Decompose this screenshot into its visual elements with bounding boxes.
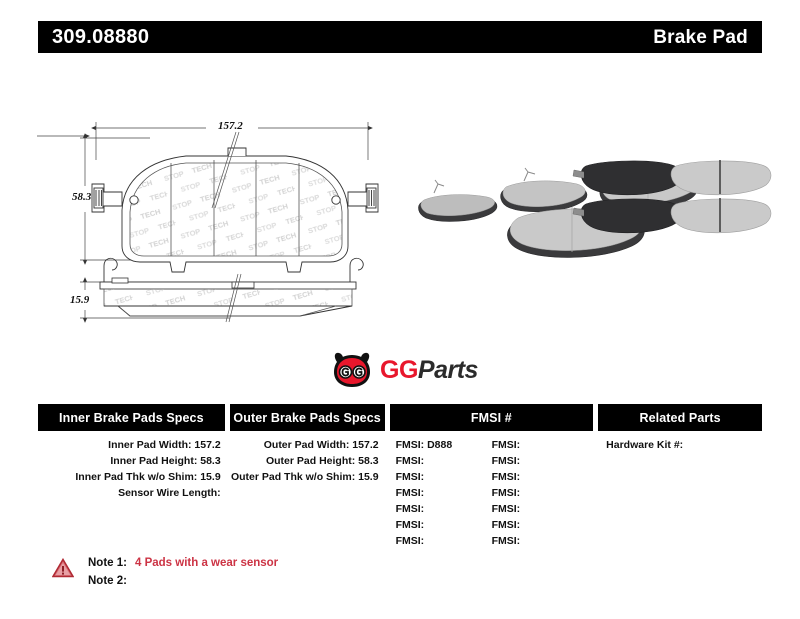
fmsi-column: FMSI: D888 FMSI: FMSI: FMSI: FMSI: FMSI:…	[390, 437, 594, 549]
fmsi-row: FMSI:	[396, 517, 492, 533]
fmsi-row: FMSI:	[492, 453, 521, 469]
fmsi-row: FMSI:	[396, 469, 492, 485]
inner-specs-column: Inner Pad Width: 157.2 Inner Pad Height:…	[38, 437, 225, 549]
spec-row: Inner Pad Width: 157.2	[38, 437, 221, 453]
logo-text-gg: GG	[380, 356, 418, 384]
ggparts-mascot-icon	[330, 350, 374, 390]
fmsi-subcolumn-left: FMSI: D888 FMSI: FMSI: FMSI: FMSI: FMSI:…	[396, 437, 492, 549]
spec-row: Inner Pad Height: 58.3	[38, 453, 221, 469]
fmsi-row: FMSI:	[492, 517, 521, 533]
spec-row: Outer Pad Height: 58.3	[230, 453, 379, 469]
related-part-row: Hardware Kit #:	[606, 437, 762, 453]
fmsi-row: FMSI:	[396, 501, 492, 517]
column-header-fmsi: FMSI #	[390, 404, 594, 431]
note-line-2: Note 2:	[88, 572, 278, 590]
spec-row: Outer Pad Thk w/o Shim: 15.9	[230, 469, 379, 485]
fmsi-row: FMSI:	[492, 485, 521, 501]
column-header-inner-specs: Inner Brake Pads Specs	[38, 404, 225, 431]
column-header-related-parts: Related Parts	[598, 404, 762, 431]
column-header-outer-specs: Outer Brake Pads Specs	[230, 404, 385, 431]
fmsi-row: FMSI:	[492, 533, 521, 549]
fmsi-row: FMSI:	[396, 533, 492, 549]
note-line-1: Note 1: 4 Pads with a wear sensor	[88, 554, 278, 572]
technical-drawing-area: 157.2 58.3 15.9 STOP TECH STOP TECH	[0, 60, 800, 390]
specs-table-body: Inner Pad Width: 157.2 Inner Pad Height:…	[38, 437, 762, 549]
fmsi-row: FMSI:	[492, 501, 521, 517]
spec-row: Inner Pad Thk w/o Shim: 15.9	[38, 469, 221, 485]
fmsi-row: FMSI:	[492, 437, 521, 453]
spec-sheet: 309.08880 Brake Pad 157.2 58.3 15.9 STOP…	[0, 0, 800, 619]
product-type: Brake Pad	[653, 28, 748, 47]
fmsi-row: FMSI:	[492, 469, 521, 485]
related-parts-column: Hardware Kit #:	[598, 437, 762, 549]
fmsi-row: FMSI:	[396, 485, 492, 501]
note-1-text: 4 Pads with a wear sensor	[135, 554, 278, 572]
brake-pad-line-drawing: STOP TECH STOP TECH	[0, 60, 800, 390]
warning-triangle-icon	[52, 558, 74, 578]
fmsi-row: FMSI:	[396, 453, 492, 469]
sheet-header: 309.08880 Brake Pad	[38, 21, 762, 53]
specs-table-header-row: Inner Brake Pads Specs Outer Brake Pads …	[38, 404, 762, 431]
note-1-label: Note 1:	[88, 554, 127, 572]
outer-specs-column: Outer Pad Width: 157.2 Outer Pad Height:…	[230, 437, 385, 549]
logo-text-parts: Parts	[418, 356, 478, 384]
note-2-label: Note 2:	[88, 572, 127, 590]
fmsi-subcolumn-right: FMSI: FMSI: FMSI: FMSI: FMSI: FMSI: FMSI…	[492, 437, 521, 549]
spec-row: Outer Pad Width: 157.2	[230, 437, 379, 453]
part-number: 309.08880	[52, 27, 149, 47]
spec-row: Sensor Wire Length:	[38, 485, 221, 501]
specs-table: Inner Brake Pads Specs Outer Brake Pads …	[38, 404, 762, 549]
notes-section: Note 1: 4 Pads with a wear sensor Note 2…	[52, 554, 278, 590]
ggparts-logo: GGParts	[326, 346, 488, 394]
fmsi-row: FMSI: D888	[396, 437, 492, 453]
